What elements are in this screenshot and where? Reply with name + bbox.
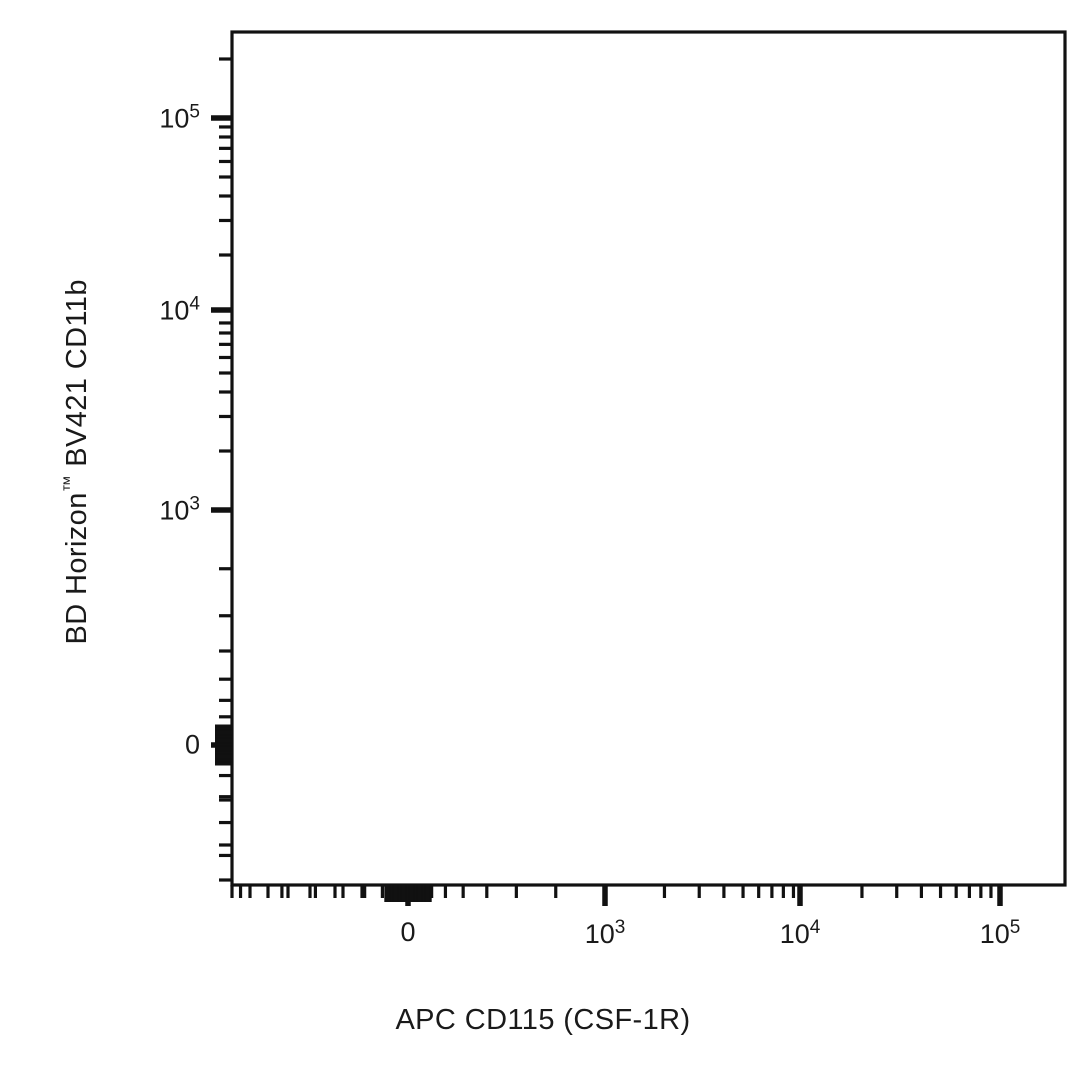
x-tick-label-3: 105 [980,917,1021,950]
tick-exponent: 3 [189,494,200,515]
flow-cytometry-figure: APC CD115 (CSF-1R) BD Horizon™ BV421 CD1… [0,0,1086,1086]
tick-base: 10 [780,919,810,949]
plot-frame-rect [232,32,1065,885]
tick-base: 10 [159,496,189,526]
tick-base: 0 [185,730,200,760]
tick-exponent: 5 [1010,917,1021,938]
tick-base: 10 [585,919,615,949]
y-axis-title: BD Horizon™ BV421 CD11b [60,12,94,912]
tick-exponent: 4 [189,294,200,315]
x-axis-title: APC CD115 (CSF-1R) [0,1004,1086,1037]
tick-base: 10 [159,104,189,134]
trademark-symbol: ™ [60,475,79,492]
x-tick-label-1: 103 [585,917,626,950]
tick-exponent: 4 [810,917,821,938]
tick-base: 10 [159,296,189,326]
y-tick-label-2: 103 [60,494,200,527]
tick-base: 10 [980,919,1010,949]
scatter-plot-canvas [0,0,1086,1086]
x-tick-label-0: 0 [400,917,415,948]
y-tick-label-3: 0 [60,730,200,761]
x-tick-label-2: 104 [780,917,821,950]
y-tick-label-0: 105 [60,102,200,135]
y-tick-label-1: 104 [60,294,200,327]
tick-base: 0 [400,917,415,947]
plot-frame [232,32,1065,885]
tick-exponent: 3 [615,917,626,938]
tick-exponent: 5 [189,102,200,123]
